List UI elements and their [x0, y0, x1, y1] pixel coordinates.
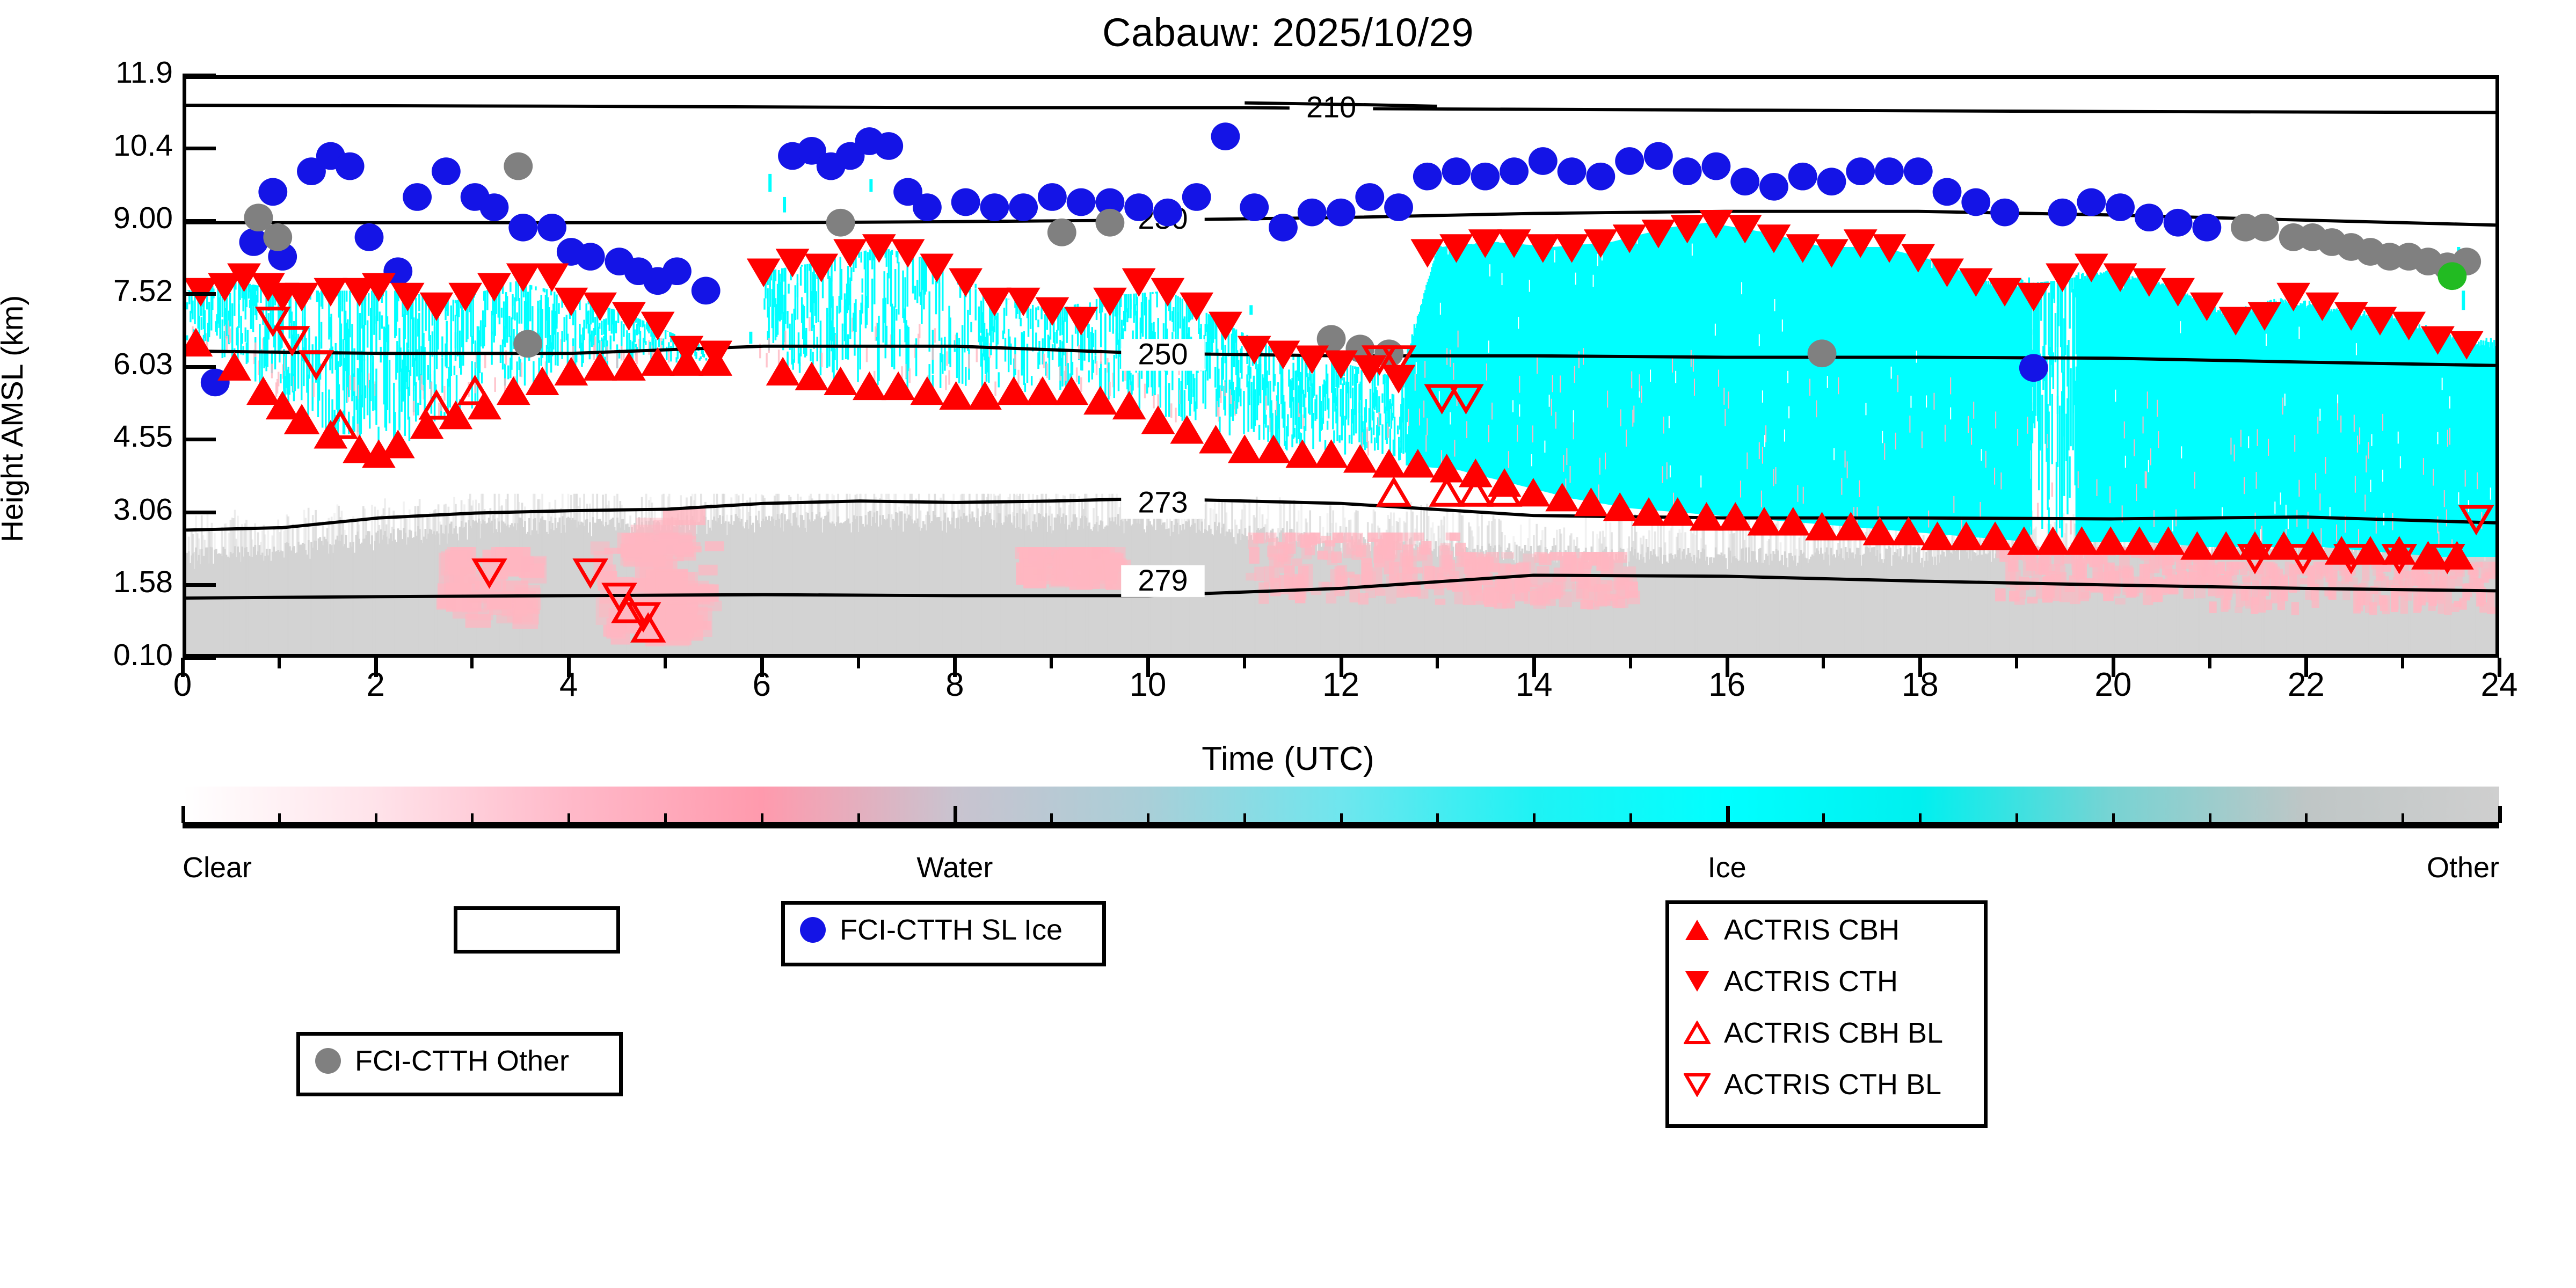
colorbar-tick — [664, 813, 667, 823]
x-tick-mark — [1146, 658, 1150, 677]
x-tick-mark-minor — [278, 658, 281, 668]
legend-item-label: ACTRIS CBH — [1724, 913, 1900, 947]
x-tick-mark-minor — [1822, 658, 1825, 668]
x-tick-mark-minor — [664, 658, 667, 668]
colorbar-tick — [1533, 813, 1536, 823]
colorbar-tick — [1919, 813, 1922, 823]
triangle-up-filled-icon — [1681, 918, 1713, 942]
y-tick-label: 10.4 — [39, 130, 173, 161]
triangle-down-open-icon — [1681, 1072, 1713, 1097]
y-tick-mark — [183, 365, 216, 369]
colorbar-tick — [278, 813, 281, 823]
colorbar-tick — [1629, 813, 1632, 823]
x-tick-mark-minor — [1629, 658, 1632, 668]
circle-marker-icon — [312, 1048, 344, 1074]
x-tick-mark — [181, 658, 185, 677]
colorbar-tick — [471, 813, 474, 823]
legend-item-label: FCI-CTTH SL Ice — [840, 913, 1063, 947]
y-axis-label: Height AMSL (km) — [0, 258, 30, 580]
colorbar-label: Ice — [1620, 851, 1835, 884]
x-tick-mark — [953, 658, 957, 677]
triangle-up-open-icon — [1681, 1021, 1713, 1045]
x-tick-mark — [2498, 658, 2501, 677]
x-tick-mark-minor — [470, 658, 474, 668]
x-tick-mark-minor — [1050, 658, 1053, 668]
x-tick-mark-minor — [2015, 658, 2018, 668]
y-tick-mark — [183, 438, 216, 441]
colorbar-tick — [1822, 813, 1825, 823]
legend-item-label: ACTRIS CTH — [1724, 965, 1898, 998]
colorbar-tick — [2015, 813, 2018, 823]
colorbar-tick — [2305, 813, 2308, 823]
legend-item[interactable]: ACTRIS CBH — [1669, 904, 1984, 956]
colorbar-tick — [761, 813, 763, 823]
x-tick-mark — [1340, 658, 1343, 677]
colorbar-tick — [1050, 813, 1053, 823]
colorbar-tick — [375, 813, 377, 823]
colorbar-tick — [181, 806, 185, 823]
y-tick-label: 3.06 — [39, 494, 173, 525]
colorbar-tick — [2209, 813, 2211, 823]
y-tick-label: 4.55 — [39, 421, 173, 452]
legend-fci-ctth-other[interactable]: FCI-CTTH Other — [296, 1032, 623, 1096]
circle-marker-icon — [797, 917, 829, 943]
colorbar-label: Clear — [183, 851, 397, 884]
legend-fci-ctth-sl-ice[interactable]: FCI-CTTH SL Ice — [781, 901, 1106, 966]
legend-actris[interactable]: ACTRIS CBH ACTRIS CTH ACTRIS CBH BL ACTR… — [1665, 900, 1988, 1128]
plot-frame: 210230250273279 — [183, 75, 2499, 658]
colorbar-tick — [1340, 813, 1343, 823]
x-tick-mark — [2112, 658, 2115, 677]
legend-item[interactable]: ACTRIS CTH BL — [1669, 1059, 1984, 1110]
x-tick-mark — [1532, 658, 1536, 677]
x-tick-mark-minor — [1243, 658, 1246, 668]
legend-item-label: FCI-CTTH Other — [355, 1044, 569, 1078]
page-title: Cabauw: 2025/10/29 — [0, 10, 2576, 55]
y-tick-mark — [183, 219, 216, 223]
colorbar-tick — [954, 806, 957, 823]
colorbar-tick — [567, 813, 570, 823]
x-tick-mark-minor — [1436, 658, 1439, 668]
x-tick-mark — [374, 658, 378, 677]
x-tick-mark — [2304, 658, 2308, 677]
x-tick-mark — [1726, 658, 1729, 677]
legend-item[interactable]: ACTRIS CBH BL — [1669, 1007, 1984, 1059]
x-axis-label: Time (UTC) — [0, 740, 2576, 778]
colorbar-tick — [1243, 813, 1246, 823]
colorbar-tick — [2498, 806, 2502, 823]
triangle-down-filled-icon — [1681, 969, 1713, 994]
colorbar — [183, 787, 2499, 846]
y-tick-label: 7.52 — [39, 276, 173, 307]
legend-item-label: ACTRIS CTH BL — [1724, 1068, 1941, 1101]
colorbar-tick — [857, 813, 860, 823]
y-tick-mark — [183, 511, 216, 514]
y-tick-mark — [183, 292, 216, 296]
legend-item[interactable]: FCI-CTTH Other — [300, 1036, 619, 1086]
colorbar-tick — [1147, 813, 1149, 823]
x-tick-mark-minor — [2401, 658, 2404, 668]
colorbar-tick — [1726, 806, 1730, 823]
colorbar-label: Other — [2284, 851, 2499, 884]
y-tick-mark — [183, 147, 216, 150]
x-tick-mark-minor — [2208, 658, 2211, 668]
y-tick-mark — [183, 656, 216, 660]
cloud-classification-heatmap: 210230250273279 — [186, 79, 2495, 654]
colorbar-tick — [1436, 813, 1439, 823]
x-tick-mark-minor — [857, 658, 860, 668]
y-tick-label: 11.9 — [39, 57, 173, 88]
colorbar-tick — [2402, 813, 2404, 823]
y-tick-label: 6.03 — [39, 349, 173, 380]
colorbar-label: Water — [847, 851, 1062, 884]
legend-item-label: ACTRIS CBH BL — [1724, 1016, 1943, 1050]
y-tick-mark — [183, 74, 216, 77]
colorbar-tick — [2112, 813, 2115, 823]
x-tick-mark — [760, 658, 764, 677]
x-tick-mark — [567, 658, 571, 677]
legend-item[interactable]: FCI-CTTH SL Ice — [785, 905, 1102, 955]
y-tick-label: 9.00 — [39, 203, 173, 234]
legend-item[interactable]: ACTRIS CTH — [1669, 956, 1984, 1007]
x-tick-mark — [1918, 658, 1922, 677]
legend-empty-box[interactable] — [454, 906, 620, 954]
y-tick-mark — [183, 583, 216, 587]
y-tick-label: 1.58 — [39, 567, 173, 598]
